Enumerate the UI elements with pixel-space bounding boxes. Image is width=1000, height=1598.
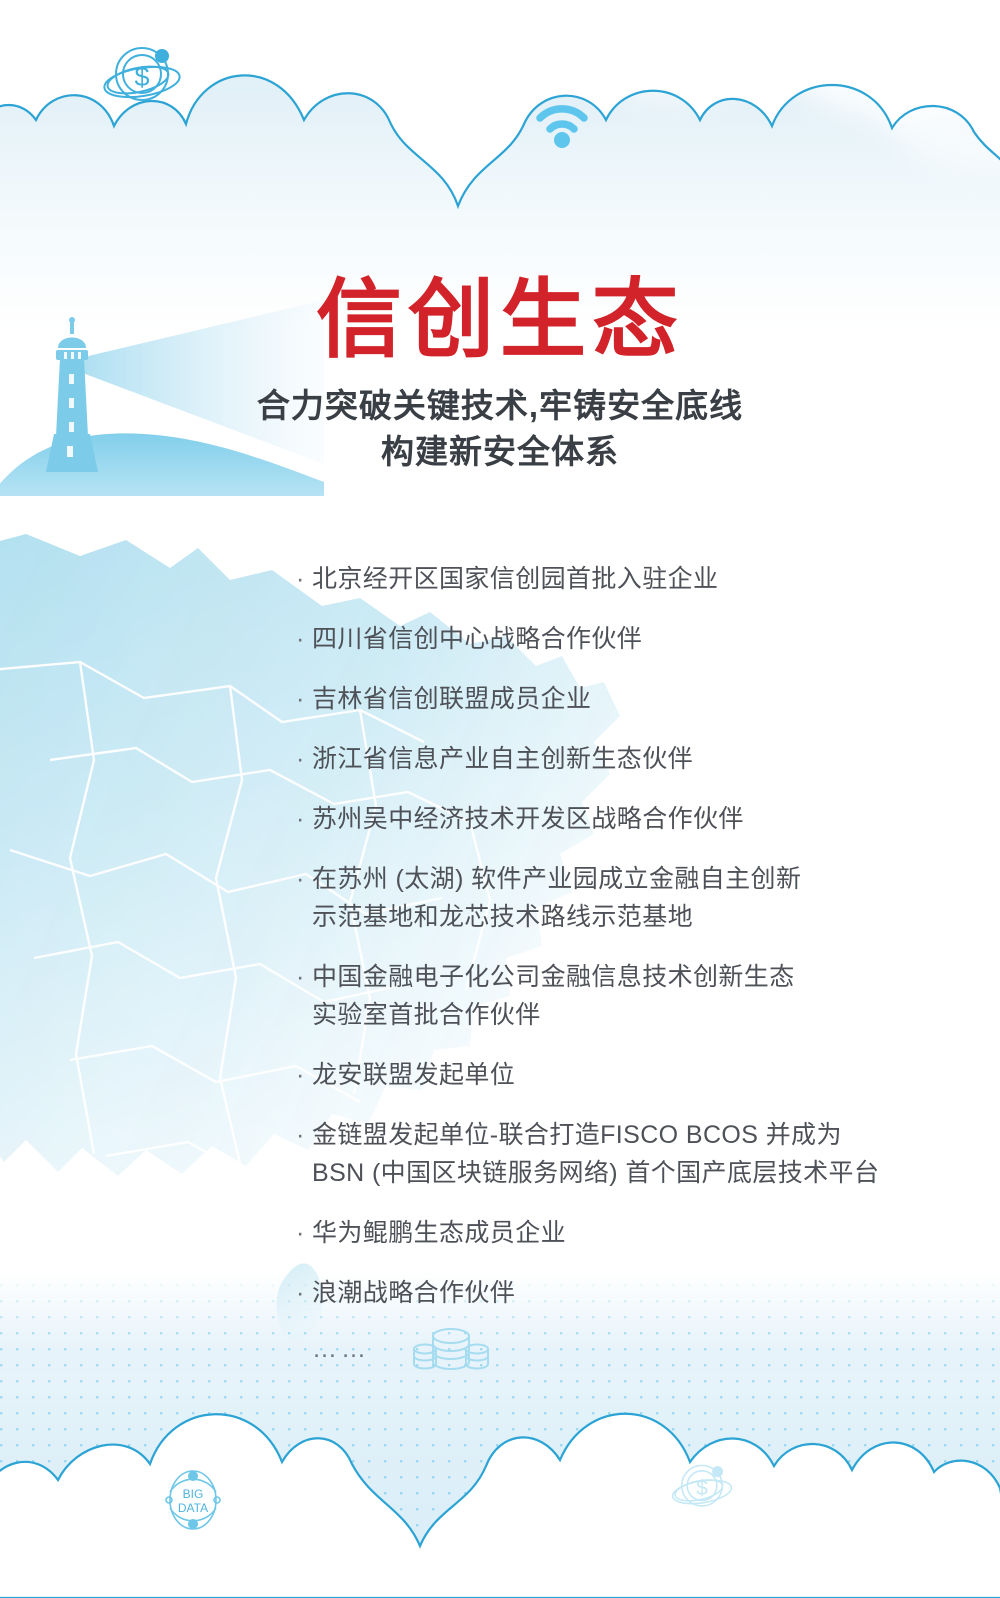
bullet-dot-icon: · [296,860,312,898]
list-item-label: 中国金融电子化公司金融信息技术创新生态 实验室首批合作伙伴 [312,958,946,1034]
list-item-label: 华为鲲鹏生态成员企业 [312,1214,946,1252]
content-layer: 信创生态 合力突破关键技术,牢铸安全底线 构建新安全体系 ·北京经开区国家信创园… [0,0,1000,1598]
list-ellipsis: …… [296,1330,946,1368]
poster-root: $ [0,0,1000,1598]
list-item-label: 浙江省信息产业自主创新生态伙伴 [312,740,946,778]
bullet-dot-icon: · [296,1214,312,1252]
list-item-label: 吉林省信创联盟成员企业 [312,680,946,718]
list-item: ·在苏州 (太湖) 软件产业园成立金融自主创新 示范基地和龙芯技术路线示范基地 [296,860,946,936]
list-item-label: 苏州吴中经济技术开发区战略合作伙伴 [312,800,946,838]
subtitle-line-1: 合力突破关键技术,牢铸安全底线 [257,387,743,424]
list-item: ·龙安联盟发起单位 [296,1056,946,1094]
bullet-dot-icon: · [296,560,312,598]
page-title: 信创生态 [0,272,1000,368]
list-item-label: 浪潮战略合作伙伴 [312,1274,946,1312]
list-item-label: 龙安联盟发起单位 [312,1056,946,1094]
list-item: ·金链盟发起单位-联合打造FISCO BCOS 并成为 BSN (中国区块链服务… [296,1116,946,1192]
list-item: ·北京经开区国家信创园首批入驻企业 [296,560,946,598]
list-item-label: 在苏州 (太湖) 软件产业园成立金融自主创新 示范基地和龙芯技术路线示范基地 [312,860,946,936]
bullet-dot-icon: · [296,958,312,996]
list-item-label: 四川省信创中心战略合作伙伴 [312,620,946,658]
list-item: ·浙江省信息产业自主创新生态伙伴 [296,740,946,778]
bullet-dot-icon: · [296,1116,312,1154]
list-item: ·中国金融电子化公司金融信息技术创新生态 实验室首批合作伙伴 [296,958,946,1034]
bullet-dot-icon: · [296,620,312,658]
bullet-dot-icon: · [296,1056,312,1094]
list-item: ·四川省信创中心战略合作伙伴 [296,620,946,658]
bullet-dot-icon: · [296,1274,312,1312]
list-item: ·苏州吴中经济技术开发区战略合作伙伴 [296,800,946,838]
list-item-label: 金链盟发起单位-联合打造FISCO BCOS 并成为 BSN (中国区块链服务网… [312,1116,946,1192]
bullet-list: ·北京经开区国家信创园首批入驻企业·四川省信创中心战略合作伙伴·吉林省信创联盟成… [296,560,946,1390]
bullet-dot-icon: · [296,740,312,778]
list-item: ·吉林省信创联盟成员企业 [296,680,946,718]
subtitle-line-2: 构建新安全体系 [0,429,1000,475]
bullet-dot-icon: · [296,800,312,838]
bullet-dot-icon: · [296,680,312,718]
list-item-label: 北京经开区国家信创园首批入驻企业 [312,560,946,598]
list-item: ·浪潮战略合作伙伴 [296,1274,946,1312]
list-item: ·华为鲲鹏生态成员企业 [296,1214,946,1252]
page-subtitle: 合力突破关键技术,牢铸安全底线 构建新安全体系 [0,383,1000,475]
